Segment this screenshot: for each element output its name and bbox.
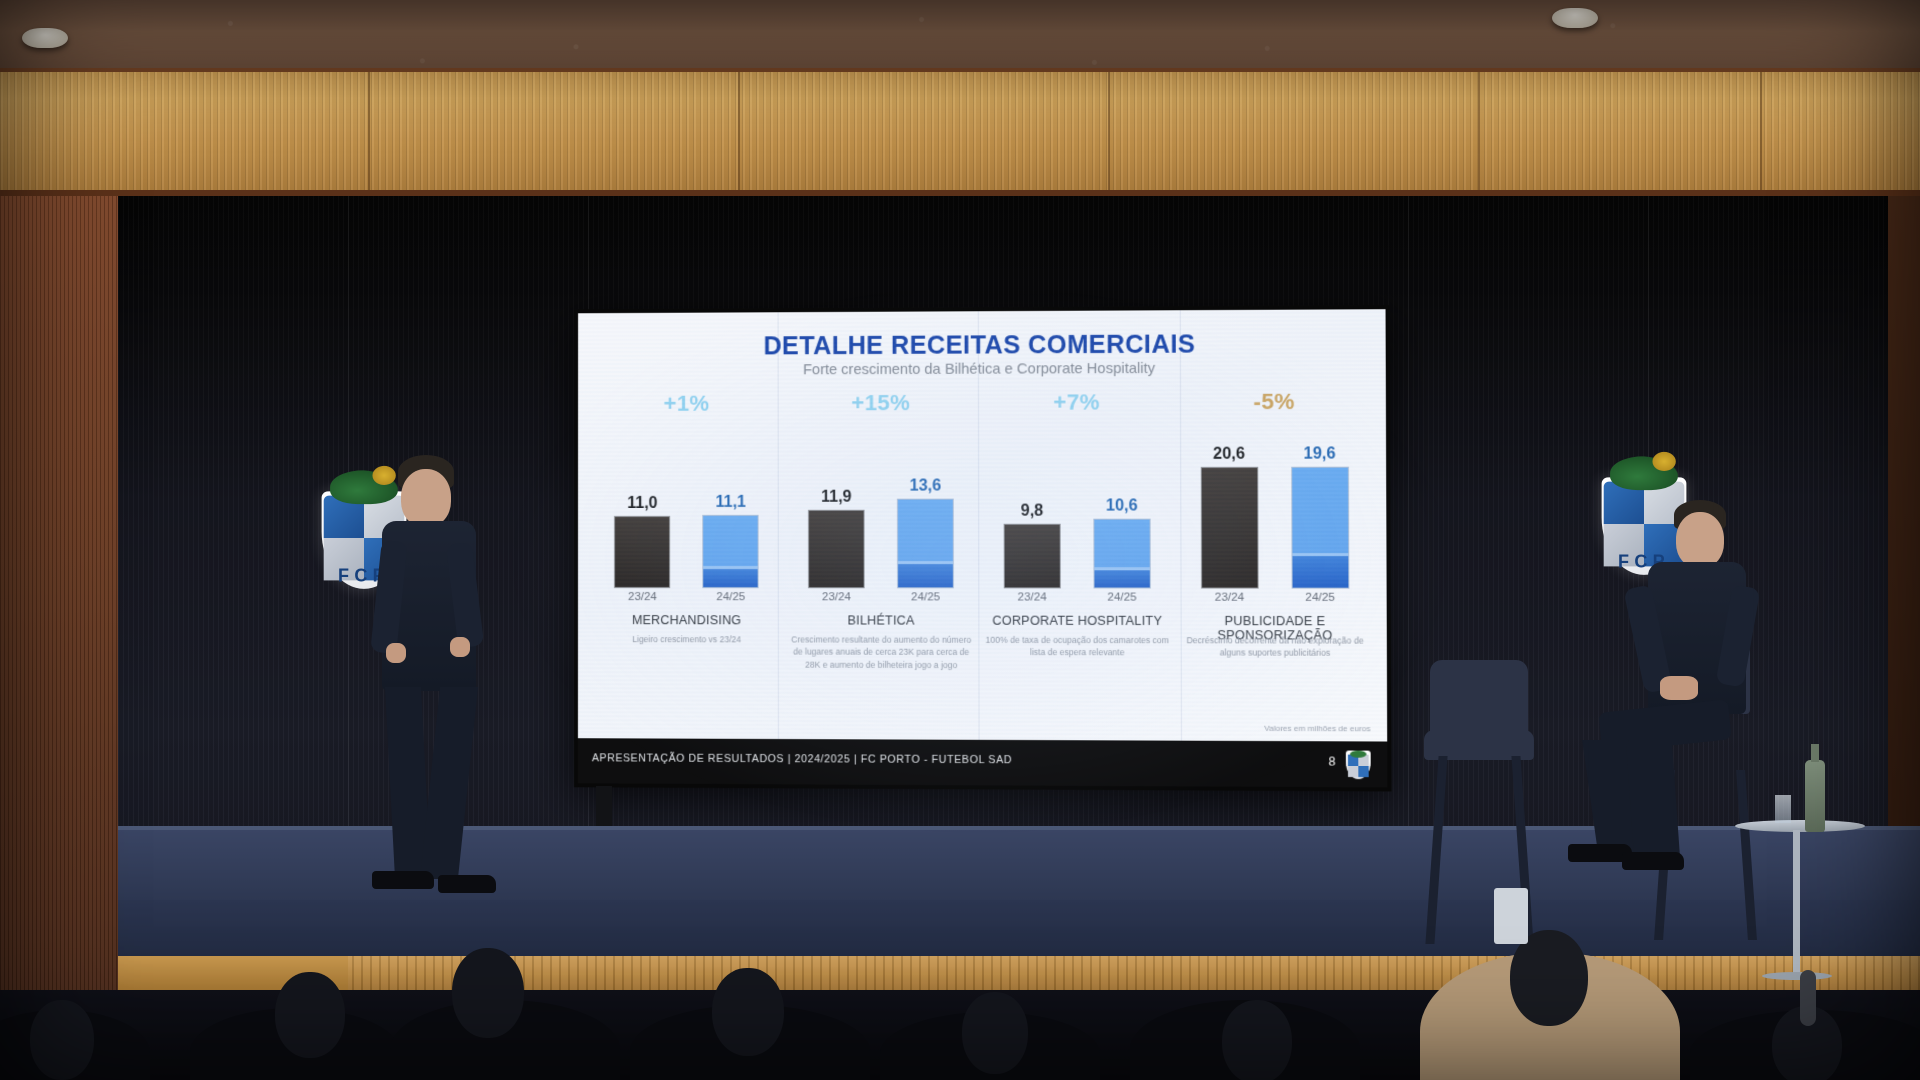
chart-group: +1%11,011,123/2424/25MERCHANDISINGLigeir… (590, 390, 784, 691)
bar-value-label: 20,6 (1213, 446, 1245, 464)
bar-column-23-24: 20,6 (1201, 446, 1257, 588)
category-description: 100% de taxa de ocupação dos camarotes c… (985, 634, 1170, 659)
bar-cur (1292, 468, 1348, 588)
slide-title: DETALHE RECEITAS COMERCIAIS (578, 329, 1386, 362)
microphone[interactable] (1800, 970, 1816, 1026)
water-bottle (1805, 760, 1825, 832)
bar-column-23-24: 9,8 (1004, 446, 1059, 587)
year-label: 24/25 (898, 591, 953, 603)
ceiling (0, 0, 1920, 78)
category-description: Crescimento resultante do aumento do núm… (790, 633, 973, 671)
year-labels: 23/2424/25 (784, 591, 979, 603)
bar-value-label: 11,0 (627, 495, 657, 513)
bar-pair: 11,913,6 (783, 446, 978, 587)
year-label: 24/25 (1292, 592, 1348, 604)
year-label: 23/24 (1005, 591, 1060, 603)
bar-prev (615, 517, 669, 587)
smartphone[interactable] (1494, 888, 1528, 944)
audience-head (452, 948, 524, 1038)
bar-prev (1005, 525, 1060, 588)
year-label: 24/25 (1094, 591, 1149, 603)
bar-value-label: 10,6 (1106, 497, 1138, 515)
bar-column-24-25: 19,6 (1292, 445, 1348, 587)
chart-group: +7%9,810,623/2424/25CORPORATE HOSPITALIT… (978, 389, 1176, 693)
bar-cur (1094, 520, 1149, 588)
page-number: 8 (1329, 755, 1336, 769)
bar-value-label: 9,8 (1021, 503, 1044, 521)
bar-cur (898, 500, 953, 588)
side-wall-left (0, 196, 122, 1006)
year-label: 23/24 (1202, 592, 1258, 604)
chart-group: -5%20,619,623/2424/25PUBLICIDADE E SPONS… (1175, 388, 1374, 693)
audience-head (712, 968, 784, 1056)
water-glass (1775, 795, 1791, 823)
bar-value-label: 19,6 (1304, 445, 1336, 463)
year-labels: 23/2424/25 (1176, 592, 1375, 604)
category-description: Decréscimo decorrente da não exploração … (1182, 634, 1368, 659)
year-label: 24/25 (704, 591, 758, 603)
bar-value-label: 13,6 (910, 477, 942, 495)
bar-column-24-25: 10,6 (1094, 446, 1150, 588)
slide-footer: APRESENTAÇÃO DE RESULTADOS | 2024/2025 |… (578, 738, 1387, 787)
chart-group: +15%11,913,623/2424/25BILHÉTICACrescimen… (783, 390, 979, 693)
bar-pair: 9,810,6 (979, 446, 1176, 588)
bar-pair: 20,619,6 (1175, 445, 1374, 587)
year-labels: 23/2424/25 (979, 591, 1176, 603)
smoke-detector-icon (1552, 8, 1598, 28)
projection-screen: DETALHE RECEITAS COMERCIAIS Forte cresci… (574, 305, 1392, 791)
bar-cur (704, 516, 758, 587)
audience-head (1510, 930, 1588, 1026)
category-name: BILHÉTICA (784, 613, 979, 627)
bar-column-24-25: 11,1 (704, 447, 758, 588)
growth-percentage: +7% (1053, 389, 1100, 415)
bar-value-label: 11,1 (716, 494, 746, 512)
side-table-stem (1793, 830, 1800, 980)
bar-column-23-24: 11,9 (809, 446, 864, 587)
footer-text: APRESENTAÇÃO DE RESULTADOS | 2024/2025 |… (592, 752, 1012, 766)
auditorium-scene: FCP FCP DETALHE RECEITAS COMERCIAIS Fort… (0, 0, 1920, 1080)
smoke-detector-icon (22, 28, 68, 48)
growth-percentage: +1% (664, 391, 710, 417)
side-table-base (1762, 972, 1832, 980)
bar-pair: 11,011,1 (590, 447, 784, 588)
audience-head (962, 992, 1028, 1074)
presenter-standing (360, 455, 500, 915)
bar-column-24-25: 13,6 (898, 446, 953, 587)
bar-prev (809, 511, 864, 587)
bar-value-label: 11,9 (821, 489, 852, 507)
growth-percentage: +15% (851, 390, 910, 416)
category-name: CORPORATE HOSPITALITY (979, 614, 1176, 628)
fc-porto-crest-icon (1346, 751, 1371, 780)
audience-head (275, 972, 345, 1058)
category-name: MERCHANDISING (590, 613, 784, 627)
growth-percentage: -5% (1253, 389, 1294, 415)
audience-head (1222, 1000, 1292, 1080)
units-note: Valores em milhões de euros (1264, 724, 1370, 734)
bar-column-23-24: 11,0 (615, 447, 669, 587)
side-table (1735, 820, 1865, 832)
year-label: 23/24 (615, 591, 669, 603)
year-label: 23/24 (809, 591, 864, 603)
slide-subtitle: Forte crescimento da Bilhética e Corpora… (578, 360, 1386, 379)
bar-prev (1201, 468, 1257, 588)
presentation-slide: DETALHE RECEITAS COMERCIAIS Forte cresci… (578, 309, 1387, 741)
year-labels: 23/2424/25 (590, 591, 784, 603)
category-description: Ligeiro crescimento vs 23/24 (596, 633, 778, 646)
audience-head (30, 1000, 94, 1080)
wood-wall-panel (0, 72, 1920, 194)
chart-groups: +1%11,011,123/2424/25MERCHANDISINGLigeir… (590, 388, 1375, 693)
